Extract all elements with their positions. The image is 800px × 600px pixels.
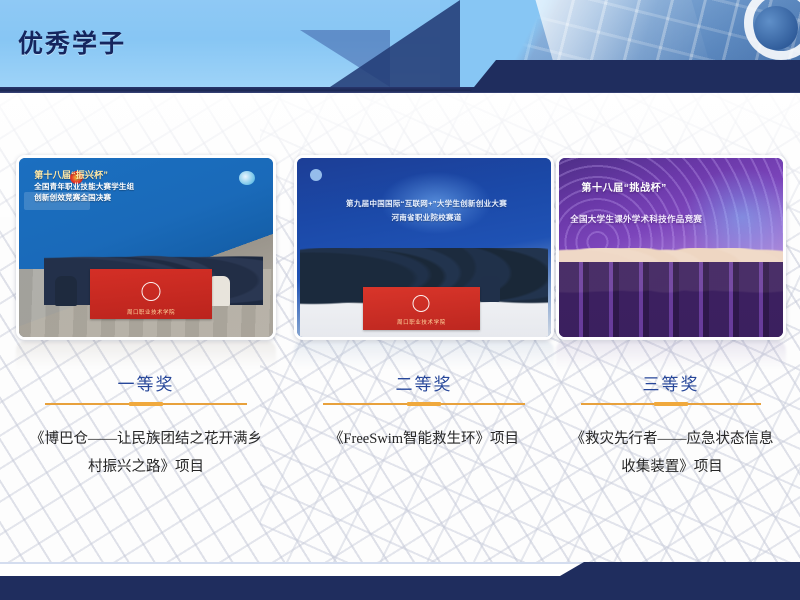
award-divider-accent <box>654 402 688 407</box>
photo-banner-line-1: 第九届中国国际“互联网+”大学生创新创业大赛 <box>317 197 535 211</box>
photo-banner-text: 第十八届“振兴杯” 全国青年职业技能大赛学生组 创新创效竞赛全国决赛 <box>34 169 265 204</box>
photo-flag-text: 周口职业技术学院 <box>127 308 175 316</box>
photo-banner-line-2: 全国大学生课外学术科技作品竞赛 <box>570 213 776 225</box>
photo-banner-line-3: 创新创效竞赛全国决赛 <box>34 193 265 204</box>
award-divider-rule <box>45 403 248 405</box>
award-project-caption-first: 《博巴仓——让民族团结之花开满乡村振兴之路》项目 <box>30 425 262 482</box>
photo-reflection-third <box>556 341 786 369</box>
page-title: 优秀学子 <box>18 24 126 60</box>
photo-reflection-second <box>294 341 554 369</box>
photo-reflection-first <box>16 341 276 369</box>
award-project-caption-third: 《救灾先行者——应急状态信息收集装置》项目 <box>566 425 778 482</box>
award-photo-third-prize[interactable]: 第十八届“挑战杯” 全国大学生课外学术科技作品竞赛 <box>556 155 786 340</box>
photo-person-kneeling <box>480 276 500 302</box>
award-divider-rule <box>323 403 526 405</box>
slide-footer-bar <box>0 562 800 600</box>
award-divider-accent <box>407 402 441 407</box>
photo-school-flag: 周口职业技术学院 <box>363 287 480 330</box>
photo-school-flag: 周口职业技术学院 <box>90 269 212 319</box>
photo-group-suits <box>559 262 783 337</box>
award-label-second-prize: 二等奖 <box>294 370 554 405</box>
circle-inner-decoration-icon <box>754 6 798 50</box>
event-logo-icon <box>310 169 322 181</box>
award-rank-text: 三等奖 <box>556 370 786 395</box>
photo-banner-line-2: 河南省职业院校赛道 <box>317 211 535 225</box>
award-photo-first-prize[interactable]: 第十八届“振兴杯” 全国青年职业技能大赛学生组 创新创效竞赛全国决赛 周口职业技… <box>16 155 276 340</box>
header-wedge-navy <box>330 0 460 87</box>
photo-banner-line-1: 第十八届“挑战杯” <box>581 179 774 194</box>
photo-banner-text: 第九届中国国际“互联网+”大学生创新创业大赛 河南省职业院校赛道 <box>317 197 535 224</box>
slide-root: 优秀学子 第十八届“振兴杯” 全国青年职业技能大赛学生组 创新创效竞赛全国决赛 … <box>0 0 800 600</box>
school-emblem-icon <box>142 282 161 301</box>
award-rank-text: 二等奖 <box>294 370 554 395</box>
header-navy-ribbon <box>470 60 800 92</box>
award-divider-accent <box>129 402 163 407</box>
award-rank-text: 一等奖 <box>16 370 276 395</box>
photo-banner-line-2: 全国青年职业技能大赛学生组 <box>34 182 265 193</box>
award-label-third-prize: 三等奖 <box>556 370 786 405</box>
award-label-first-prize: 一等奖 <box>16 370 276 405</box>
award-project-caption-second: 《FreeSwim智能救生环》项目 <box>306 425 542 453</box>
award-divider-rule <box>581 403 760 405</box>
school-emblem-icon <box>413 295 430 312</box>
photo-flag-text: 周口职业技术学院 <box>397 318 446 326</box>
award-photo-second-prize[interactable]: 第九届中国国际“互联网+”大学生创新创业大赛 河南省职业院校赛道 周口职业技术学… <box>294 155 554 340</box>
photo-banner-line-1: 第十八届“振兴杯” <box>34 169 265 182</box>
photo-person-kneeling-left <box>55 276 77 306</box>
